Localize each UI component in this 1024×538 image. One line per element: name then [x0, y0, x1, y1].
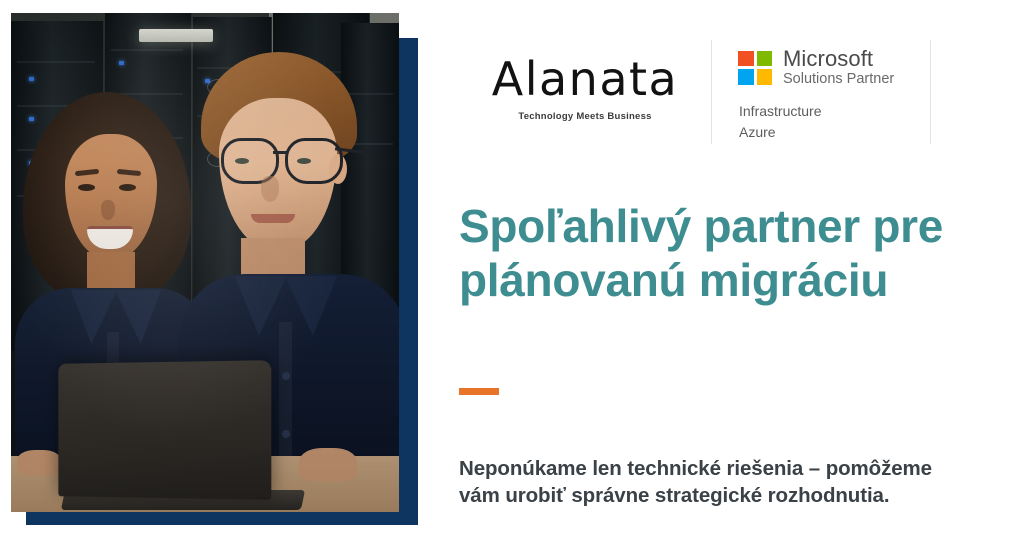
ceiling-light — [139, 29, 213, 42]
accent-divider-bar — [459, 388, 499, 395]
microsoft-logo-icon — [738, 51, 772, 85]
brand-row: Alanata Technology Meets Business Micros… — [459, 40, 931, 144]
designation-infrastructure: Infrastructure — [739, 101, 894, 121]
microsoft-solutions-partner-badge: Microsoft Solutions Partner Infrastructu… — [712, 40, 930, 142]
laptop-screen — [58, 360, 271, 500]
microsoft-wordmark: Microsoft — [783, 47, 894, 70]
alanata-wordmark: Alanata — [492, 56, 679, 102]
hero-photo — [11, 13, 399, 512]
microsoft-square-red — [738, 51, 754, 67]
photo-scene — [11, 13, 399, 512]
microsoft-square-green — [757, 51, 773, 67]
marketing-banner: Alanata Technology Meets Business Micros… — [0, 0, 1024, 538]
partner-program-label: Solutions Partner — [783, 71, 894, 88]
alanata-tagline: Technology Meets Business — [518, 111, 651, 122]
content-panel: Alanata Technology Meets Business Micros… — [440, 0, 1024, 538]
eyeglasses — [215, 138, 345, 180]
page-title: Spoľahlivý partner pre plánovanú migráci… — [459, 199, 979, 308]
alanata-logo: Alanata Technology Meets Business — [459, 40, 711, 122]
microsoft-square-yellow — [757, 69, 773, 85]
microsoft-lockup: Microsoft Solutions Partner — [738, 47, 894, 88]
partner-designations: Infrastructure Azure — [738, 101, 894, 142]
divider-right — [930, 40, 931, 144]
designation-azure: Azure — [739, 122, 894, 142]
hero-visual — [0, 0, 440, 538]
subheading-copy: Neponúkame len technické riešenia – pomô… — [459, 455, 969, 510]
microsoft-square-blue — [738, 69, 754, 85]
microsoft-wordmark-block: Microsoft Solutions Partner — [783, 47, 894, 88]
